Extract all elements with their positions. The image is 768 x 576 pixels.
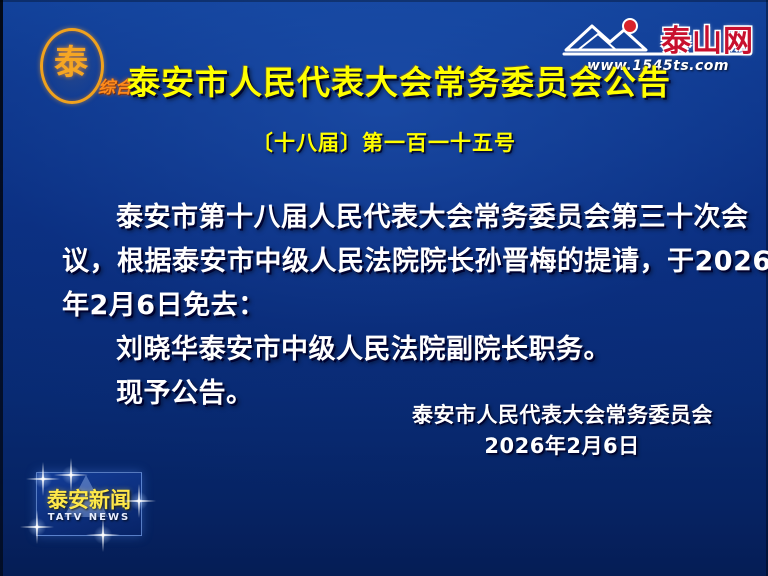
document-number: 〔十八届〕第一百一十五号 xyxy=(0,128,768,158)
announcement-body: 泰安市第十八届人民代表大会常务委员会第三十次会 议，根据泰安市中级人民法院院长孙… xyxy=(62,196,712,416)
tv-broadcast-screen: 泰 综合 泰山网 www.1545ts.com 泰安市人民代表大会常务委员会公告… xyxy=(0,0,768,576)
signature-issuer: 泰安市人民代表大会常务委员会 xyxy=(412,400,712,431)
body-line: 年2月6日免去： xyxy=(62,284,712,328)
signature-block: 泰安市人民代表大会常务委员会 2026年2月6日 xyxy=(412,400,712,462)
program-name-en: TATV NEWS xyxy=(36,512,142,523)
body-line: 泰安市第十八届人民代表大会常务委员会第三十次会 xyxy=(62,196,712,240)
program-bug: 泰安新闻 TATV NEWS xyxy=(36,472,142,536)
signature-date: 2026年2月6日 xyxy=(412,431,712,462)
program-name-cn: 泰安新闻 xyxy=(36,484,142,514)
body-line: 刘晓华泰安市中级人民法院副院长职务。 xyxy=(62,328,712,372)
screen-edge-top xyxy=(0,0,768,2)
site-logo-name: 泰山网 xyxy=(661,16,754,60)
page-title: 泰安市人民代表大会常务委员会公告 xyxy=(0,62,768,104)
body-line: 议，根据泰安市中级人民法院院长孙晋梅的提请，于2026 xyxy=(62,240,712,284)
